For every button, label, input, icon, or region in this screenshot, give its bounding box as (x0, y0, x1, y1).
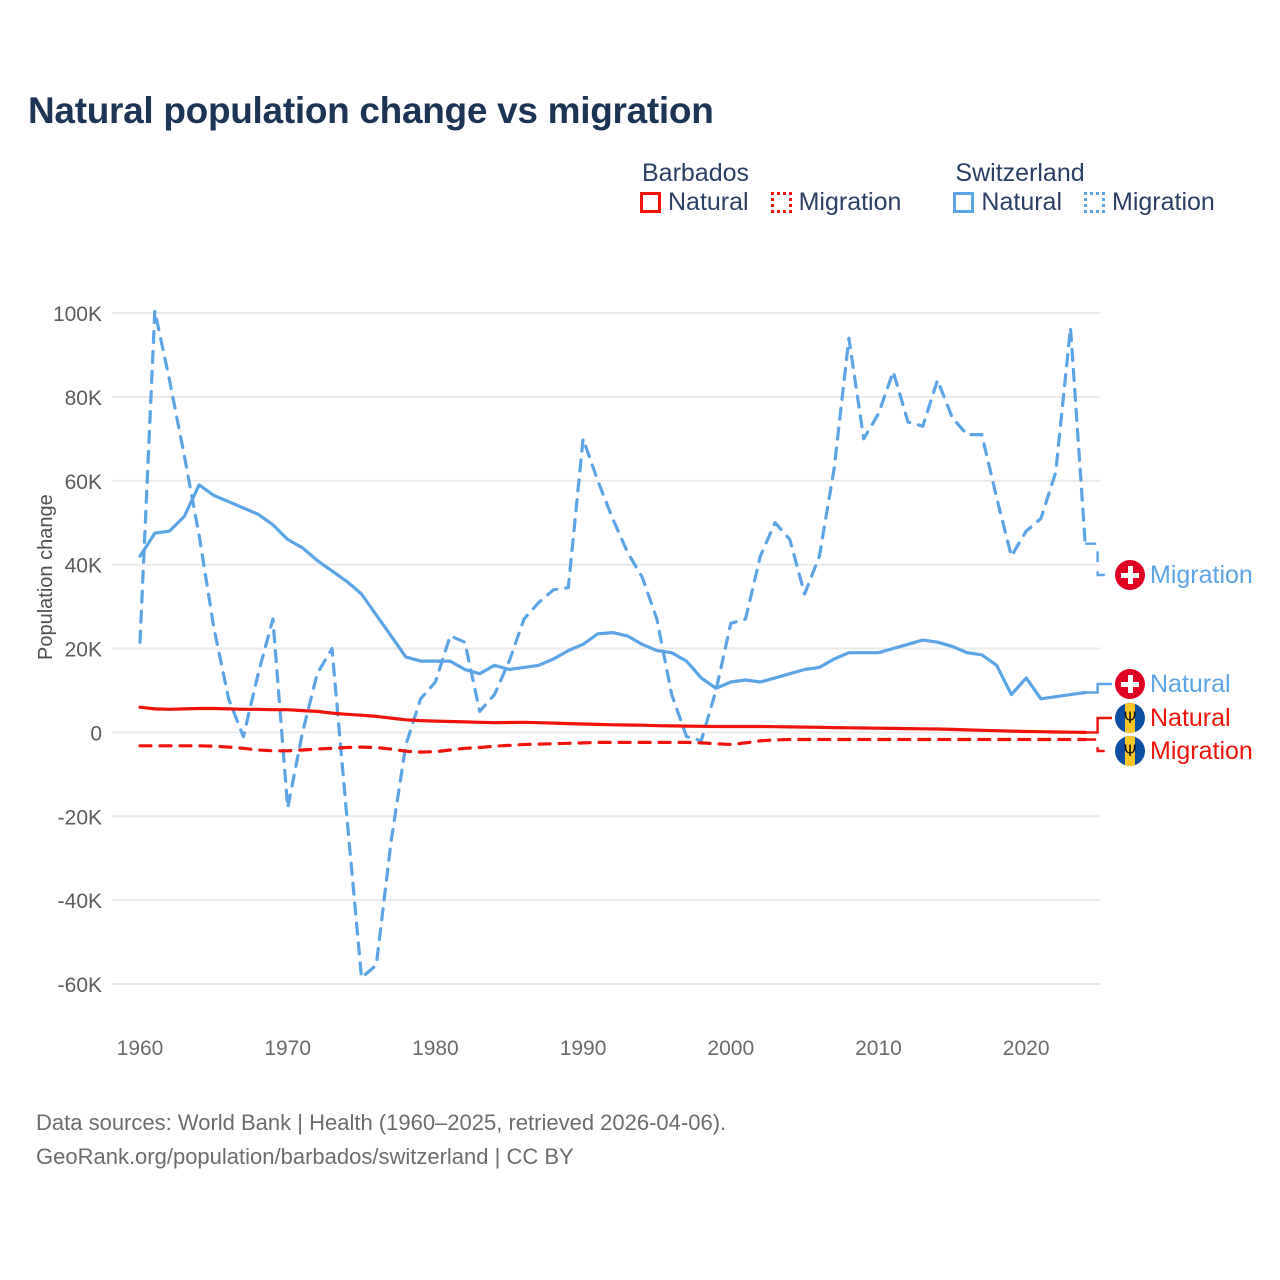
end-label-text: Migration (1150, 739, 1253, 764)
footer-line-2: GeoRank.org/population/barbados/switzerl… (36, 1140, 726, 1174)
footer-line-1: Data sources: World Bank | Health (1960–… (36, 1106, 726, 1140)
end-label-switzerland-natural[interactable]: Natural (1115, 669, 1231, 699)
end-label-barbados-natural[interactable]: Ψ Natural (1115, 703, 1231, 733)
end-label-text: Natural (1150, 706, 1231, 731)
chart-root: Natural population change vs migration B… (0, 0, 1280, 1280)
footer-attribution: Data sources: World Bank | Health (1960–… (36, 1106, 726, 1174)
barbados-flag-icon: Ψ (1115, 703, 1145, 733)
switzerland-flag-icon (1115, 669, 1145, 699)
barbados-flag-icon: Ψ (1115, 736, 1145, 766)
end-label-text: Migration (1150, 563, 1253, 588)
end-label-text: Natural (1150, 672, 1231, 697)
end-label-switzerland-migration[interactable]: Migration (1115, 560, 1253, 590)
series-end-labels: Migration Natural Ψ Natural Ψ Migration (0, 0, 1280, 1280)
switzerland-flag-icon (1115, 560, 1145, 590)
end-label-barbados-migration[interactable]: Ψ Migration (1115, 736, 1253, 766)
